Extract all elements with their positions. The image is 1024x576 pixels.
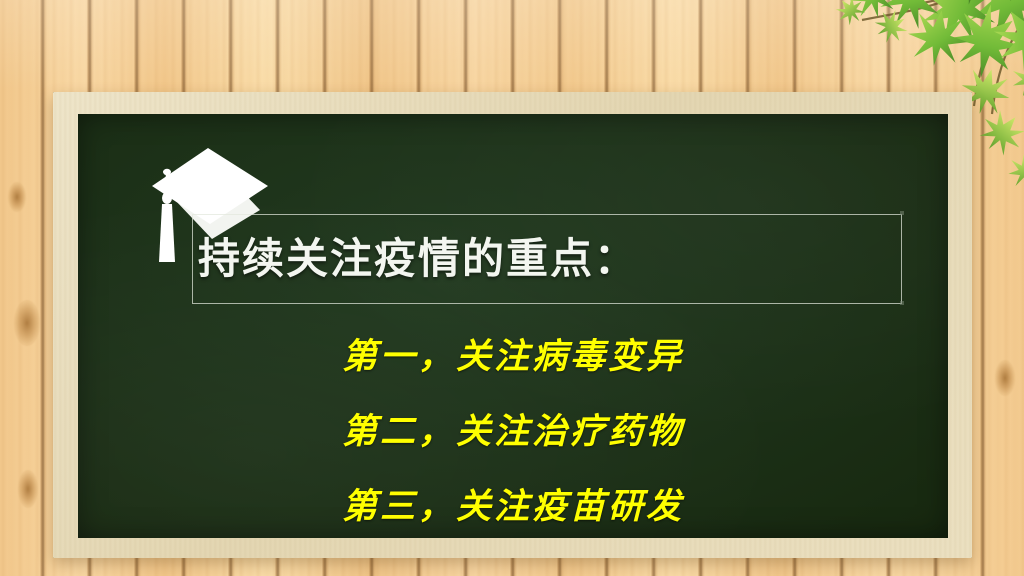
- wood-knot: [995, 360, 1015, 396]
- wood-knot: [14, 300, 40, 346]
- list-item: 第三，关注疫苗研发: [78, 469, 948, 538]
- page-title: 持续关注疫情的重点：: [198, 212, 638, 306]
- list-item: 第二，关注治疗药物: [78, 394, 948, 469]
- chalkboard-frame: 持续关注疫情的重点： 第一，关注病毒变异 第二，关注治疗药物 第三，关注疫苗研发: [53, 92, 972, 558]
- list-item: 第一，关注病毒变异: [78, 319, 948, 394]
- body-list: 第一，关注病毒变异 第二，关注治疗药物 第三，关注疫苗研发: [78, 319, 948, 538]
- chalkboard: 持续关注疫情的重点： 第一，关注病毒变异 第二，关注治疗药物 第三，关注疫苗研发: [78, 114, 948, 538]
- selection-handle[interactable]: [900, 301, 904, 305]
- wood-highlight: [0, 0, 1024, 90]
- wood-knot: [18, 470, 38, 508]
- wood-knot: [8, 182, 26, 212]
- presentation-slide: 持续关注疫情的重点： 第一，关注病毒变异 第二，关注治疗药物 第三，关注疫苗研发: [0, 0, 1024, 576]
- selection-handle[interactable]: [900, 211, 904, 215]
